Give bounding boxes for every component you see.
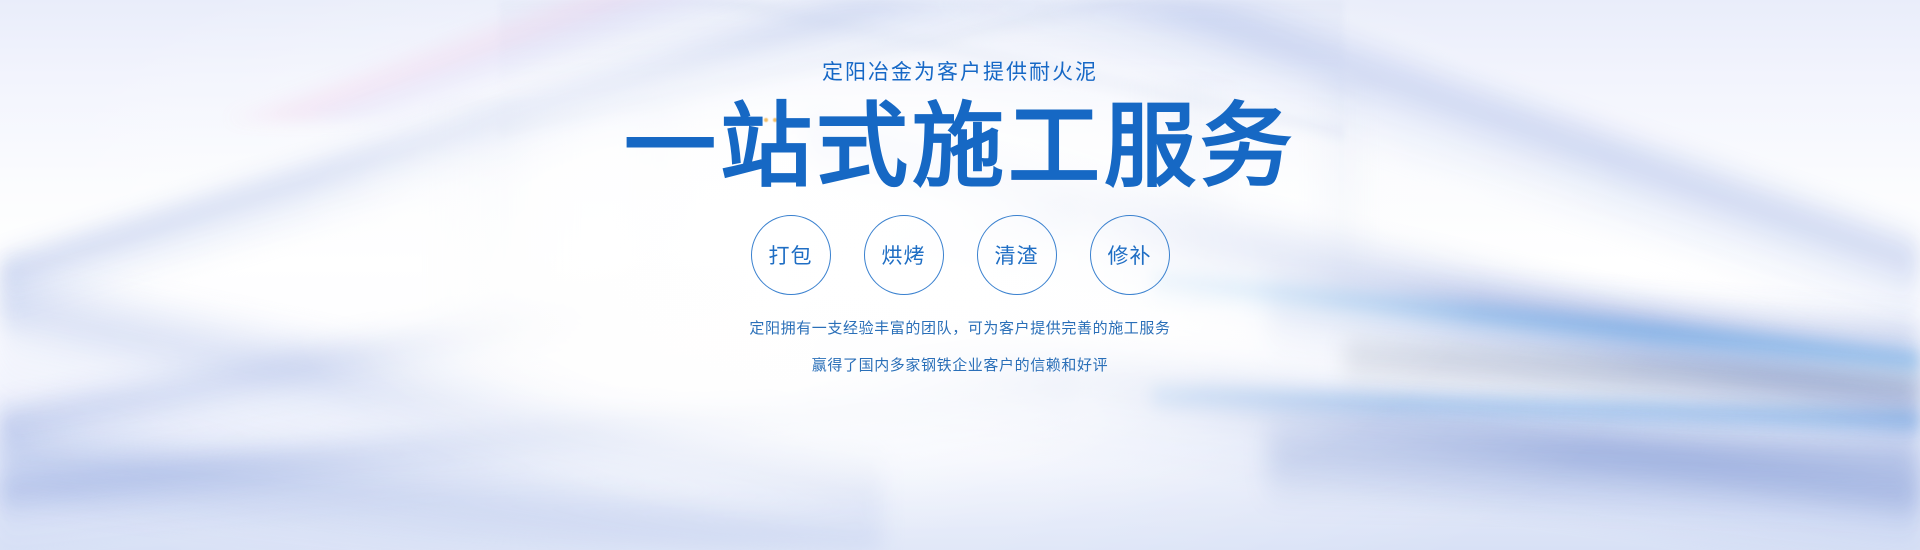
service-circle-label: 打包 xyxy=(769,240,813,270)
service-circle-repair[interactable]: 修补 xyxy=(1090,215,1170,295)
service-circle-label: 修补 xyxy=(1108,240,1152,270)
banner-headline: 一站式施工服务 xyxy=(624,101,1296,193)
service-circle-list: 打包 烘烤 清渣 修补 xyxy=(751,215,1170,295)
banner-content: 定阳冶金为客户提供耐火泥 一站式施工服务 打包 烘烤 清渣 修补 定阳拥有一支经… xyxy=(0,0,1920,550)
hero-banner: 定阳冶金为客户提供耐火泥 一站式施工服务 打包 烘烤 清渣 修补 定阳拥有一支经… xyxy=(0,0,1920,550)
service-circle-slag-removal[interactable]: 清渣 xyxy=(977,215,1057,295)
service-circle-baking[interactable]: 烘烤 xyxy=(864,215,944,295)
service-circle-label: 烘烤 xyxy=(882,240,926,270)
banner-description-line-1: 定阳拥有一支经验丰富的团队，可为客户提供完善的施工服务 xyxy=(749,321,1170,336)
service-circle-packing[interactable]: 打包 xyxy=(751,215,831,295)
service-circle-label: 清渣 xyxy=(995,240,1039,270)
banner-description-line-2: 赢得了国内多家钢铁企业客户的信赖和好评 xyxy=(812,358,1108,373)
banner-subtitle: 定阳冶金为客户提供耐火泥 xyxy=(822,62,1098,83)
